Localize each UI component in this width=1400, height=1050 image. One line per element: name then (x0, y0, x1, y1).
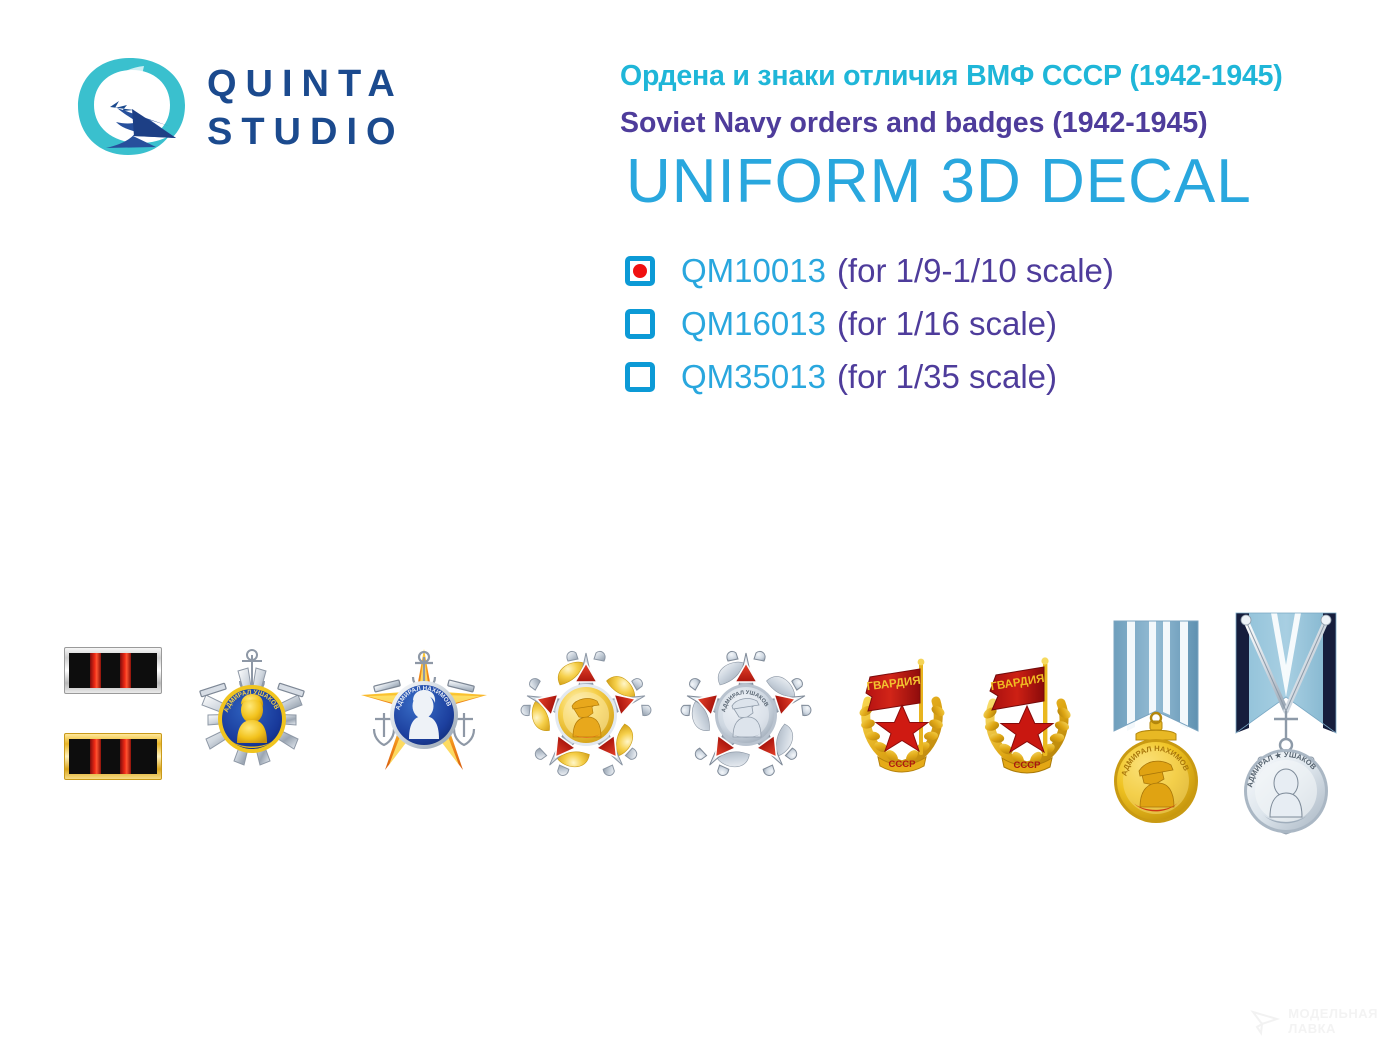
checkbox-qm10013[interactable] (625, 256, 655, 286)
medal-icon: АДМИРАЛ ★ УШАКОВ (1216, 593, 1356, 847)
watermark-line2: ЛАВКА (1288, 1021, 1378, 1036)
guards-scroll-text: СССР (1014, 760, 1042, 771)
decal-medal-nakhimov: АДМИРАЛ НАХИМОВ (1092, 603, 1220, 833)
decal-ribbon-bar-gold (64, 733, 162, 780)
order-star-icon: АДМИРАЛ УШАКОВ (188, 647, 316, 777)
decal-medal-ushakov: АДМИРАЛ ★ УШАКОВ (1216, 593, 1356, 847)
order-cross-icon (512, 643, 660, 783)
checkbox-qm35013[interactable] (625, 362, 655, 392)
guards-badge-icon: ГВАРДИЯ СССР (975, 655, 1079, 779)
watermark-text: МОДЕЛЬНАЯ ЛАВКА (1288, 1006, 1378, 1036)
product-option-qm16013[interactable]: QM16013 (for 1/16 scale) (625, 301, 1114, 347)
ribbon-bar-icon (64, 647, 162, 694)
decal-guards-badge-1: ГВАРДИЯ СССР (850, 655, 954, 779)
option-scale: (for 1/16 scale) (837, 305, 1057, 343)
ribbon-field (69, 653, 157, 688)
option-scale: (for 1/9-1/10 scale) (837, 252, 1114, 290)
ribbon-field (69, 739, 157, 774)
order-star-icon: АДМИРАЛ НАХИМОВ (358, 643, 490, 779)
product-sheet: QUINTA STUDIO Ордена и знаки отличия ВМФ… (0, 0, 1400, 1050)
title-block: Ордена и знаки отличия ВМФ СССР (1942-19… (620, 58, 1360, 217)
order-cross-icon: АДМИРАЛ УШАКОВ (672, 643, 820, 783)
page-title: UNIFORM 3D DECAL (626, 147, 1360, 217)
brand-name-line1: QUINTA (207, 60, 405, 108)
decal-ribbon-bar-silver (64, 647, 162, 694)
product-option-qm35013[interactable]: QM35013 (for 1/35 scale) (625, 354, 1114, 400)
product-option-list: QM10013 (for 1/9-1/10 scale) QM16013 (fo… (625, 248, 1114, 407)
decal-order-ushakov-badge: АДМИРАЛ УШАКОВ (672, 643, 820, 783)
guards-scroll-text: СССР (889, 759, 917, 770)
selected-marker-icon (633, 264, 647, 278)
title-russian: Ордена и знаки отличия ВМФ СССР (1942-19… (620, 58, 1360, 94)
brand-name-line2: STUDIO (207, 108, 405, 156)
checkbox-qm16013[interactable] (625, 309, 655, 339)
quinta-q-swirl-jet-logo-icon (72, 52, 190, 162)
option-code: QM35013 (681, 358, 826, 396)
ribbon-stripe (120, 739, 131, 774)
option-code: QM16013 (681, 305, 826, 343)
decal-order-nakhimov-1st: АДМИРАЛ НАХИМОВ (358, 643, 490, 779)
ribbon-stripe (90, 739, 101, 774)
product-option-qm10013[interactable]: QM10013 (for 1/9-1/10 scale) (625, 248, 1114, 294)
medal-icon: АДМИРАЛ НАХИМОВ (1092, 603, 1220, 833)
guards-badge-icon: ГВАРДИЯ СССР (850, 655, 954, 779)
decal-order-ushakov-1st: АДМИРАЛ УШАКОВ (188, 647, 316, 777)
brand-logo: QUINTA STUDIO (72, 52, 492, 172)
option-scale: (for 1/35 scale) (837, 358, 1057, 396)
ribbon-stripe (90, 653, 101, 688)
ribbon-stripe (120, 653, 131, 688)
title-english: Soviet Navy orders and badges (1942-1945… (620, 105, 1360, 141)
watermark-line1: МОДЕЛЬНАЯ (1288, 1006, 1378, 1021)
brand-wordmark: QUINTA STUDIO (207, 60, 405, 156)
decal-preview-row: АДМИРАЛ УШАКОВ (0, 585, 1400, 875)
paper-plane-icon (1250, 1006, 1280, 1036)
ribbon-bar-icon (64, 733, 162, 780)
option-code: QM10013 (681, 252, 826, 290)
header: QUINTA STUDIO Ордена и знаки отличия ВМФ… (0, 0, 1400, 420)
decal-guards-badge-2: ГВАРДИЯ СССР (975, 655, 1079, 779)
decal-order-nakhimov-badge (512, 643, 660, 783)
watermark: МОДЕЛЬНАЯ ЛАВКА (1250, 1006, 1378, 1036)
